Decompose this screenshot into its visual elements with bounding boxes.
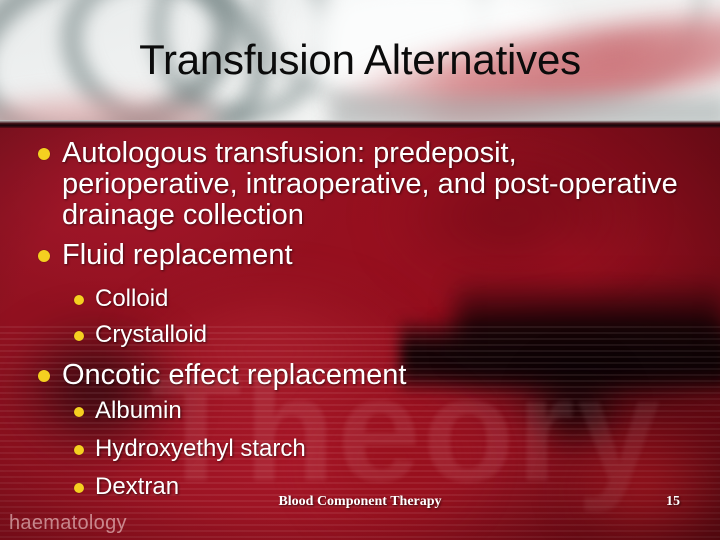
bullet-text: Autologous transfusion: predeposit, peri… (62, 138, 684, 231)
bullet-text: Colloid (95, 286, 168, 312)
bullet-marker-icon (74, 445, 84, 455)
bullet-item-level-2: Albumin (74, 398, 182, 424)
bullet-text: Oncotic effect replacement (62, 360, 406, 391)
brand-watermark: haematology (9, 512, 127, 535)
bullet-item-level-1: Autologous transfusion: predeposit, peri… (38, 138, 684, 231)
bullet-marker-icon (74, 295, 84, 305)
bullet-list: Autologous transfusion: predeposit, peri… (0, 126, 720, 540)
bullet-text: Albumin (95, 398, 182, 424)
header-gray-wash (330, 96, 720, 122)
bullet-marker-icon (74, 407, 84, 417)
slide-body: Theory Autologous transfusion: predeposi… (0, 126, 720, 540)
page-title: Transfusion Alternatives (0, 34, 720, 86)
bullet-item-level-2: Colloid (74, 286, 168, 312)
bullet-marker-icon (38, 250, 50, 262)
bullet-marker-icon (74, 483, 84, 493)
bullet-text: Hydroxyethyl starch (95, 436, 306, 462)
bullet-marker-icon (38, 370, 50, 382)
bullet-marker-icon (74, 331, 84, 341)
bullet-item-level-2: Hydroxyethyl starch (74, 436, 306, 462)
presentation-slide: Transfusion Alternatives Theory Autologo… (0, 0, 720, 540)
footer-deck-title: Blood Component Therapy (0, 494, 720, 510)
bullet-item-level-1: Fluid replacement (38, 240, 684, 271)
bullet-item-level-2: Crystalloid (74, 322, 207, 348)
bullet-marker-icon (38, 148, 50, 160)
bullet-item-level-1: Oncotic effect replacement (38, 360, 684, 391)
slide-number: 15 (666, 494, 680, 510)
bullet-text: Crystalloid (95, 322, 207, 348)
bullet-text: Fluid replacement (62, 240, 293, 271)
